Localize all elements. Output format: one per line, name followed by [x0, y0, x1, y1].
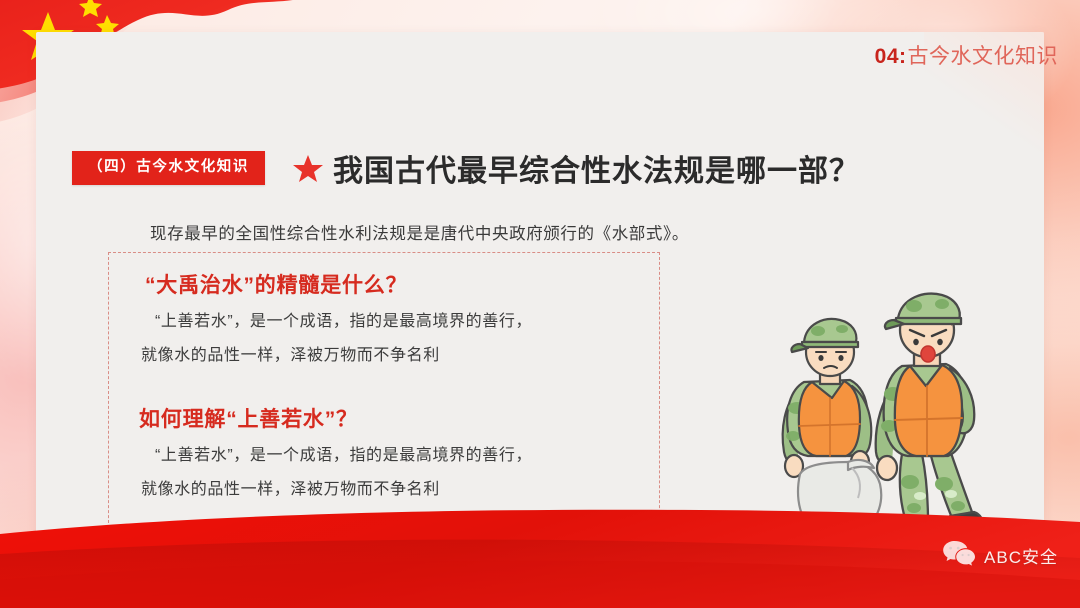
section-header: 04: 古今水文化知识	[875, 40, 1058, 70]
section-title: 古今水文化知识	[908, 40, 1059, 70]
qa-dashed-box: “大禹治水”的精髓是什么？ “上善若水”，是一个成语，指的是最高境界的善行， 就…	[108, 252, 660, 528]
qa-body-1: “上善若水”，是一个成语，指的是最高境界的善行， 就像水的品性一样，泽被万物而不…	[141, 305, 637, 373]
section-number: 04:	[875, 45, 907, 69]
watermark-logo: ABC安全	[942, 539, 1058, 572]
qa-body-2-line-1: “上善若水”，是一个成语，指的是最高境界的善行，	[141, 447, 532, 464]
red-ribbon-decoration	[0, 488, 1080, 608]
subtitle-text: 现存最早的全国性综合性水利法规是是唐代中央政府颁行的《水部式》。	[150, 220, 689, 244]
wechat-icon	[942, 539, 976, 572]
watermark-text: ABC安全	[984, 543, 1058, 568]
page-title: 我国古代最早综合性水法规是哪一部？	[333, 146, 860, 190]
qa-body-1-line-2: 就像水的品性一样，泽被万物而不争名利	[141, 347, 440, 364]
section-badge: （四）古今水文化知识	[72, 151, 265, 185]
slide-canvas: 04: 古今水文化知识 （四）古今水文化知识 我国古代最早综合性水法规是哪一部？…	[0, 0, 1080, 608]
qa-heading-1: “大禹治水”的精髓是什么？	[145, 269, 637, 299]
qa-body-1-line-1: “上善若水”，是一个成语，指的是最高境界的善行，	[141, 313, 532, 330]
red-star-icon	[293, 154, 323, 183]
qa-heading-2: 如何理解“上善若水”？	[139, 403, 637, 433]
title-row: （四）古今水文化知识 我国古代最早综合性水法规是哪一部？	[72, 146, 860, 190]
